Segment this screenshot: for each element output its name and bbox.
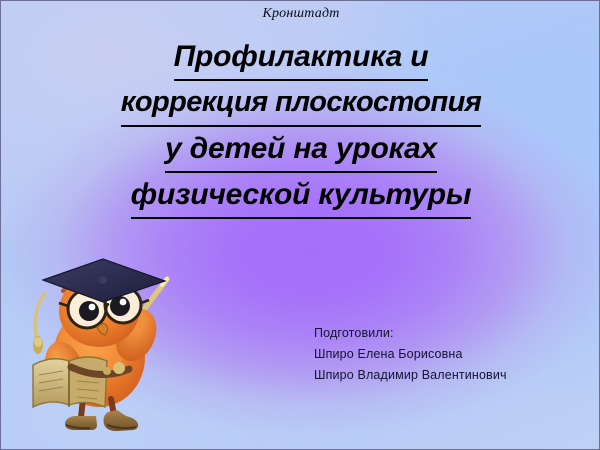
location-label: Кронштадт bbox=[1, 4, 600, 24]
title-line-1: Профилактика и bbox=[1, 35, 600, 81]
author-name-1: Шпиро Елена Борисовна bbox=[314, 344, 507, 365]
author-name-2: Шпиро Владимир Валентинович bbox=[314, 365, 507, 386]
authors-block: Подготовили: Шпиро Елена Борисовна Шпиро… bbox=[314, 323, 507, 386]
authors-heading: Подготовили: bbox=[314, 323, 507, 344]
title-line-2: коррекция плоскостопия bbox=[1, 81, 600, 127]
title-line-4: физической культуры bbox=[1, 173, 600, 219]
title-line-3: у детей на уроках bbox=[1, 127, 600, 173]
owl-professor-illustration bbox=[19, 249, 194, 434]
cap-tassel bbox=[33, 293, 45, 354]
presentation-title-slide: Кронштадт Профилактика и коррекция плоск… bbox=[0, 0, 600, 450]
graduation-cap bbox=[43, 259, 165, 302]
page-title: Профилактика и коррекция плоскостопия у … bbox=[1, 35, 600, 219]
